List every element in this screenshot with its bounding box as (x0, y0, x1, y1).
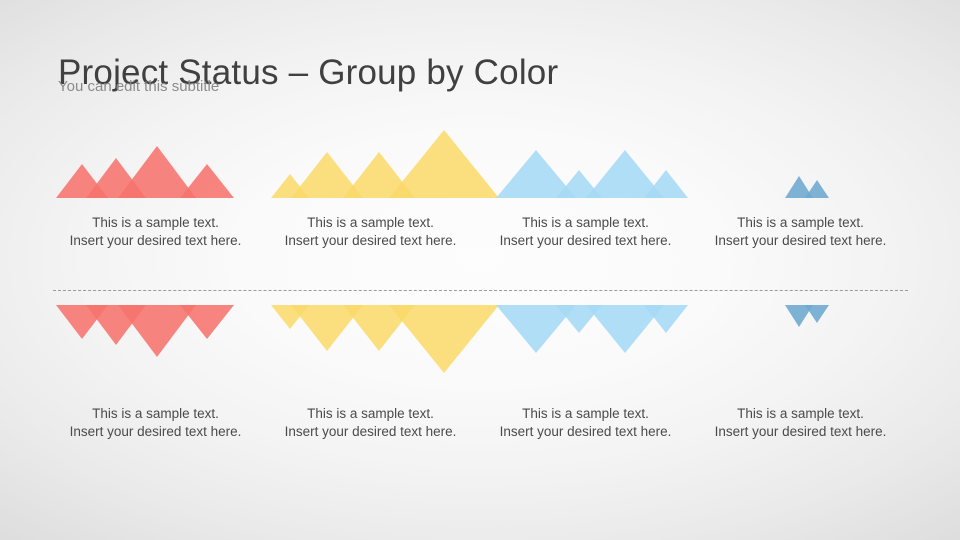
caption-line-2: Insert your desired text here. (70, 423, 242, 441)
triangle-yellow-up (389, 130, 499, 198)
caption-line-1: This is a sample text. (737, 215, 864, 230)
chart-column-steelblue-down[interactable]: This is a sample text. Insert your desir… (693, 305, 908, 441)
caption-line-2: Insert your desired text here. (500, 423, 672, 441)
caption-line-2: Insert your desired text here. (70, 232, 242, 250)
page-subtitle: You can edit this subtitle (58, 78, 219, 95)
caption-steelblue-up: This is a sample text. Insert your desir… (715, 214, 887, 250)
caption-yellow-down: This is a sample text. Insert your desir… (285, 405, 457, 441)
caption-lightblue-down: This is a sample text. Insert your desir… (500, 405, 672, 441)
caption-line-1: This is a sample text. (522, 406, 649, 421)
caption-yellow-up: This is a sample text. Insert your desir… (285, 214, 457, 250)
triangle-light_blue-up (644, 170, 688, 198)
section-divider (53, 290, 908, 291)
triangle-steel_blue-down (805, 305, 829, 323)
caption-line-1: This is a sample text. (92, 406, 219, 421)
mountain-group-lightblue-down[interactable] (486, 305, 686, 395)
chart-column-steelblue-up[interactable]: This is a sample text. Insert your desir… (693, 130, 908, 250)
mountain-group-lightblue-up[interactable] (486, 130, 686, 198)
triangle-red-down (180, 305, 234, 339)
caption-line-2: Insert your desired text here. (715, 423, 887, 441)
caption-line-1: This is a sample text. (307, 215, 434, 230)
triangle-yellow-down (389, 305, 499, 373)
caption-red-up: This is a sample text. Insert your desir… (70, 214, 242, 250)
caption-red-down: This is a sample text. Insert your desir… (70, 405, 242, 441)
caption-line-2: Insert your desired text here. (715, 232, 887, 250)
triangle-light_blue-down (644, 305, 688, 333)
mountain-group-yellow-down[interactable] (271, 305, 471, 395)
caption-line-1: This is a sample text. (522, 215, 649, 230)
caption-line-1: This is a sample text. (92, 215, 219, 230)
chart-column-red-up[interactable]: This is a sample text. Insert your desir… (48, 130, 263, 250)
slide-canvas: Project Status – Group by Color You can … (0, 0, 960, 540)
mountain-group-steelblue-up[interactable] (701, 130, 901, 198)
mountain-group-yellow-up[interactable] (271, 130, 471, 198)
chart-column-yellow-down[interactable]: This is a sample text. Insert your desir… (263, 305, 478, 441)
caption-line-2: Insert your desired text here. (285, 423, 457, 441)
mountain-row-bottom: This is a sample text. Insert your desir… (0, 305, 960, 441)
caption-lightblue-up: This is a sample text. Insert your desir… (500, 214, 672, 250)
chart-column-yellow-up[interactable]: This is a sample text. Insert your desir… (263, 130, 478, 250)
chart-column-red-down[interactable]: This is a sample text. Insert your desir… (48, 305, 263, 441)
caption-line-1: This is a sample text. (737, 406, 864, 421)
mountain-group-red-up[interactable] (56, 130, 256, 198)
triangle-steel_blue-up (805, 180, 829, 198)
mountain-group-red-down[interactable] (56, 305, 256, 395)
caption-line-1: This is a sample text. (307, 406, 434, 421)
caption-line-2: Insert your desired text here. (500, 232, 672, 250)
chart-column-lightblue-down[interactable]: This is a sample text. Insert your desir… (478, 305, 693, 441)
chart-column-lightblue-up[interactable]: This is a sample text. Insert your desir… (478, 130, 693, 250)
caption-line-2: Insert your desired text here. (285, 232, 457, 250)
caption-steelblue-down: This is a sample text. Insert your desir… (715, 405, 887, 441)
mountain-row-top: This is a sample text. Insert your desir… (0, 130, 960, 250)
mountain-group-steelblue-down[interactable] (701, 305, 901, 395)
triangle-red-up (180, 164, 234, 198)
